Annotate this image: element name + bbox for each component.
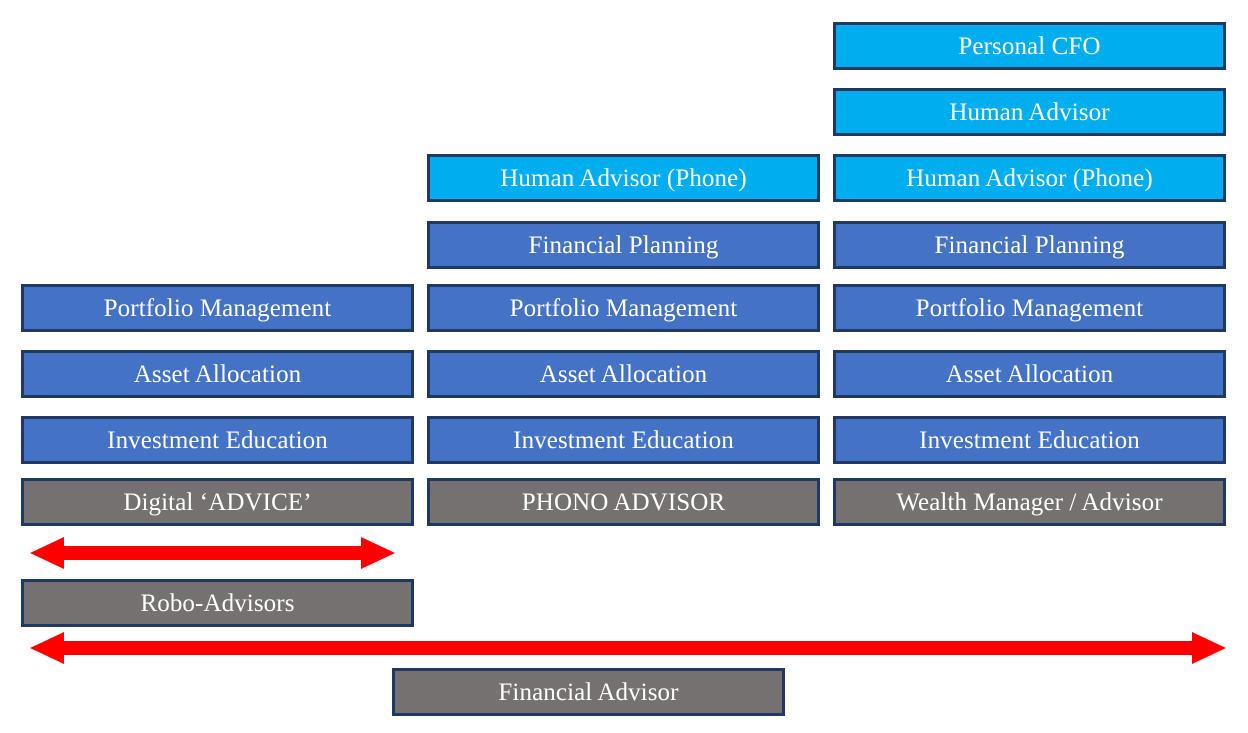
box-wealth-manager-advisor: Wealth Manager / Advisor — [833, 478, 1226, 526]
financial-advisor-span-arrow — [30, 632, 1226, 664]
box-label: Portfolio Management — [916, 296, 1144, 321]
box-label: Portfolio Management — [104, 296, 332, 321]
box-label: Asset Allocation — [946, 362, 1114, 387]
box-label: Financial Planning — [935, 233, 1125, 258]
box-label: Investment Education — [919, 428, 1140, 453]
box-label: Human Advisor (Phone) — [906, 166, 1153, 191]
box-label: Financial Advisor — [498, 680, 678, 705]
box-phono-advisor: PHONO ADVISOR — [427, 478, 820, 526]
box-label: Investment Education — [513, 428, 734, 453]
box-label: Robo-Advisors — [140, 591, 294, 616]
box-investment-education-col1: Investment Education — [21, 416, 414, 464]
box-personal-cfo: Personal CFO — [833, 22, 1226, 70]
box-asset-allocation-col3: Asset Allocation — [833, 350, 1226, 398]
box-label: Personal CFO — [958, 34, 1100, 59]
box-label: Digital ‘ADVICE’ — [123, 490, 311, 515]
box-robo-advisors: Robo-Advisors — [21, 579, 414, 627]
diagram-canvas: Personal CFO Human Advisor Human Advisor… — [0, 0, 1248, 733]
box-label: Wealth Manager / Advisor — [896, 490, 1162, 515]
box-investment-education-col2: Investment Education — [427, 416, 820, 464]
box-portfolio-management-col1: Portfolio Management — [21, 284, 414, 332]
box-financial-planning-col3: Financial Planning — [833, 221, 1226, 269]
box-label: Financial Planning — [529, 233, 719, 258]
robo-advisor-span-arrow — [30, 537, 395, 569]
box-asset-allocation-col1: Asset Allocation — [21, 350, 414, 398]
box-label: Human Advisor (Phone) — [500, 166, 747, 191]
box-label: Human Advisor — [949, 100, 1109, 125]
box-label: Asset Allocation — [540, 362, 708, 387]
box-label: Portfolio Management — [510, 296, 738, 321]
box-human-advisor: Human Advisor — [833, 88, 1226, 136]
box-label: PHONO ADVISOR — [522, 490, 725, 515]
box-portfolio-management-col2: Portfolio Management — [427, 284, 820, 332]
box-label: Asset Allocation — [134, 362, 302, 387]
box-human-advisor-phone-col3: Human Advisor (Phone) — [833, 154, 1226, 202]
box-human-advisor-phone-col2: Human Advisor (Phone) — [427, 154, 820, 202]
box-asset-allocation-col2: Asset Allocation — [427, 350, 820, 398]
box-portfolio-management-col3: Portfolio Management — [833, 284, 1226, 332]
box-financial-planning-col2: Financial Planning — [427, 221, 820, 269]
box-label: Investment Education — [107, 428, 328, 453]
box-investment-education-col3: Investment Education — [833, 416, 1226, 464]
box-digital-advice: Digital ‘ADVICE’ — [21, 478, 414, 526]
box-financial-advisor: Financial Advisor — [392, 668, 785, 716]
